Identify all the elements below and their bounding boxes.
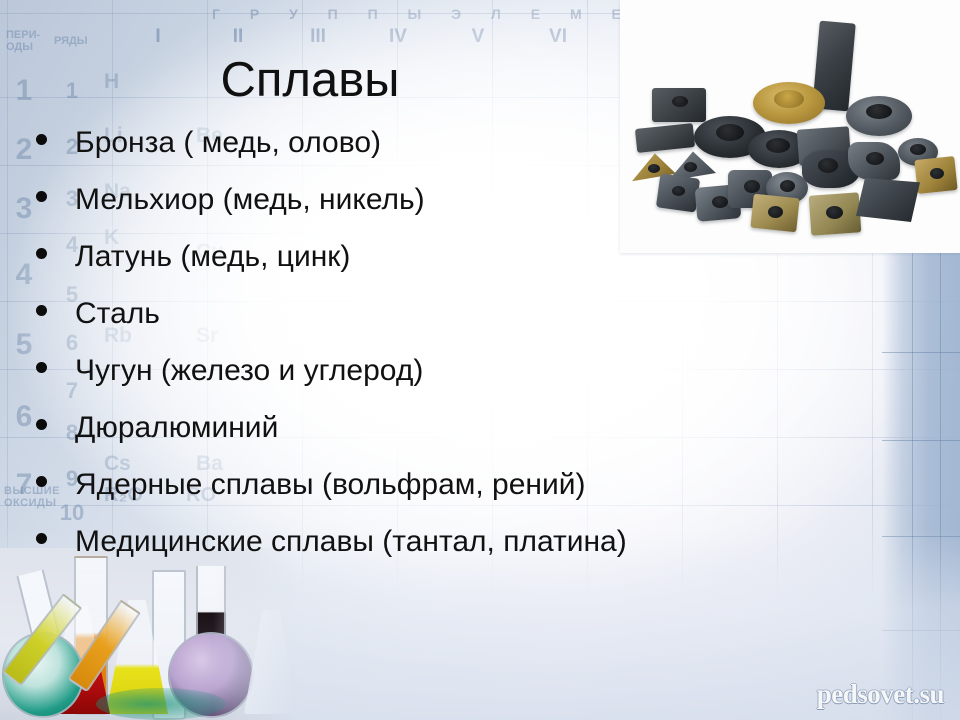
group-numeral: I <box>118 26 198 48</box>
list-item-label: Латунь (медь, цинк) <box>75 240 350 274</box>
periodic-table-group-numerals: I II III IV V VI VII <box>118 26 678 48</box>
group-numeral: VI <box>518 26 598 48</box>
group-numeral: III <box>278 26 358 48</box>
list-item: Дюралюминий <box>36 411 936 468</box>
liquid-reflection <box>96 688 226 720</box>
bullet-dot-icon <box>36 533 47 544</box>
bullet-dot-icon <box>36 191 47 202</box>
list-item: Мельхиор (медь, никель) <box>36 183 936 240</box>
bullet-dot-icon <box>36 134 47 145</box>
list-item: Ядерные сплавы (вольфрам, рений) <box>36 468 936 525</box>
bullet-dot-icon <box>36 362 47 373</box>
list-item-label: Сталь <box>75 297 160 331</box>
list-item: Медицинские сплавы (тантал, платина) <box>36 525 936 582</box>
group-numeral: II <box>198 26 278 48</box>
bullet-dot-icon <box>36 419 47 430</box>
list-item-label: Медицинские сплавы (тантал, платина) <box>75 525 627 559</box>
list-item-label: Ядерные сплавы (вольфрам, рений) <box>75 468 586 502</box>
list-item: Чугун (железо и углерод) <box>36 354 936 411</box>
bullet-dot-icon <box>36 305 47 316</box>
bullet-dot-icon <box>36 476 47 487</box>
periodic-table-header: Г Р У П П Ы Э Л Е М Е <box>212 6 634 22</box>
alloys-bullet-list: Бронза ( медь, олово) Мельхиор (медь, ни… <box>36 126 936 582</box>
presentation-slide: Г Р У П П Ы Э Л Е М Е I II III IV V VI V… <box>0 0 960 720</box>
list-item: Сталь <box>36 297 936 354</box>
bullet-dot-icon <box>36 248 47 259</box>
slide-title: Сплавы <box>0 55 620 106</box>
list-item-label: Мельхиор (медь, никель) <box>75 183 425 217</box>
list-item-label: Чугун (железо и углерод) <box>75 354 423 388</box>
periods-column-label: ПЕРИ-ОДЫ <box>6 30 50 53</box>
group-numeral: IV <box>358 26 438 48</box>
list-item: Латунь (медь, цинк) <box>36 240 936 297</box>
site-watermark: pedsovet.su <box>817 679 944 710</box>
list-item-label: Дюралюминий <box>75 411 278 445</box>
list-item: Бронза ( медь, олово) <box>36 126 936 183</box>
group-numeral: V <box>438 26 518 48</box>
rows-column-label: РЯДЫ <box>54 36 94 48</box>
list-item-label: Бронза ( медь, олово) <box>75 126 381 160</box>
